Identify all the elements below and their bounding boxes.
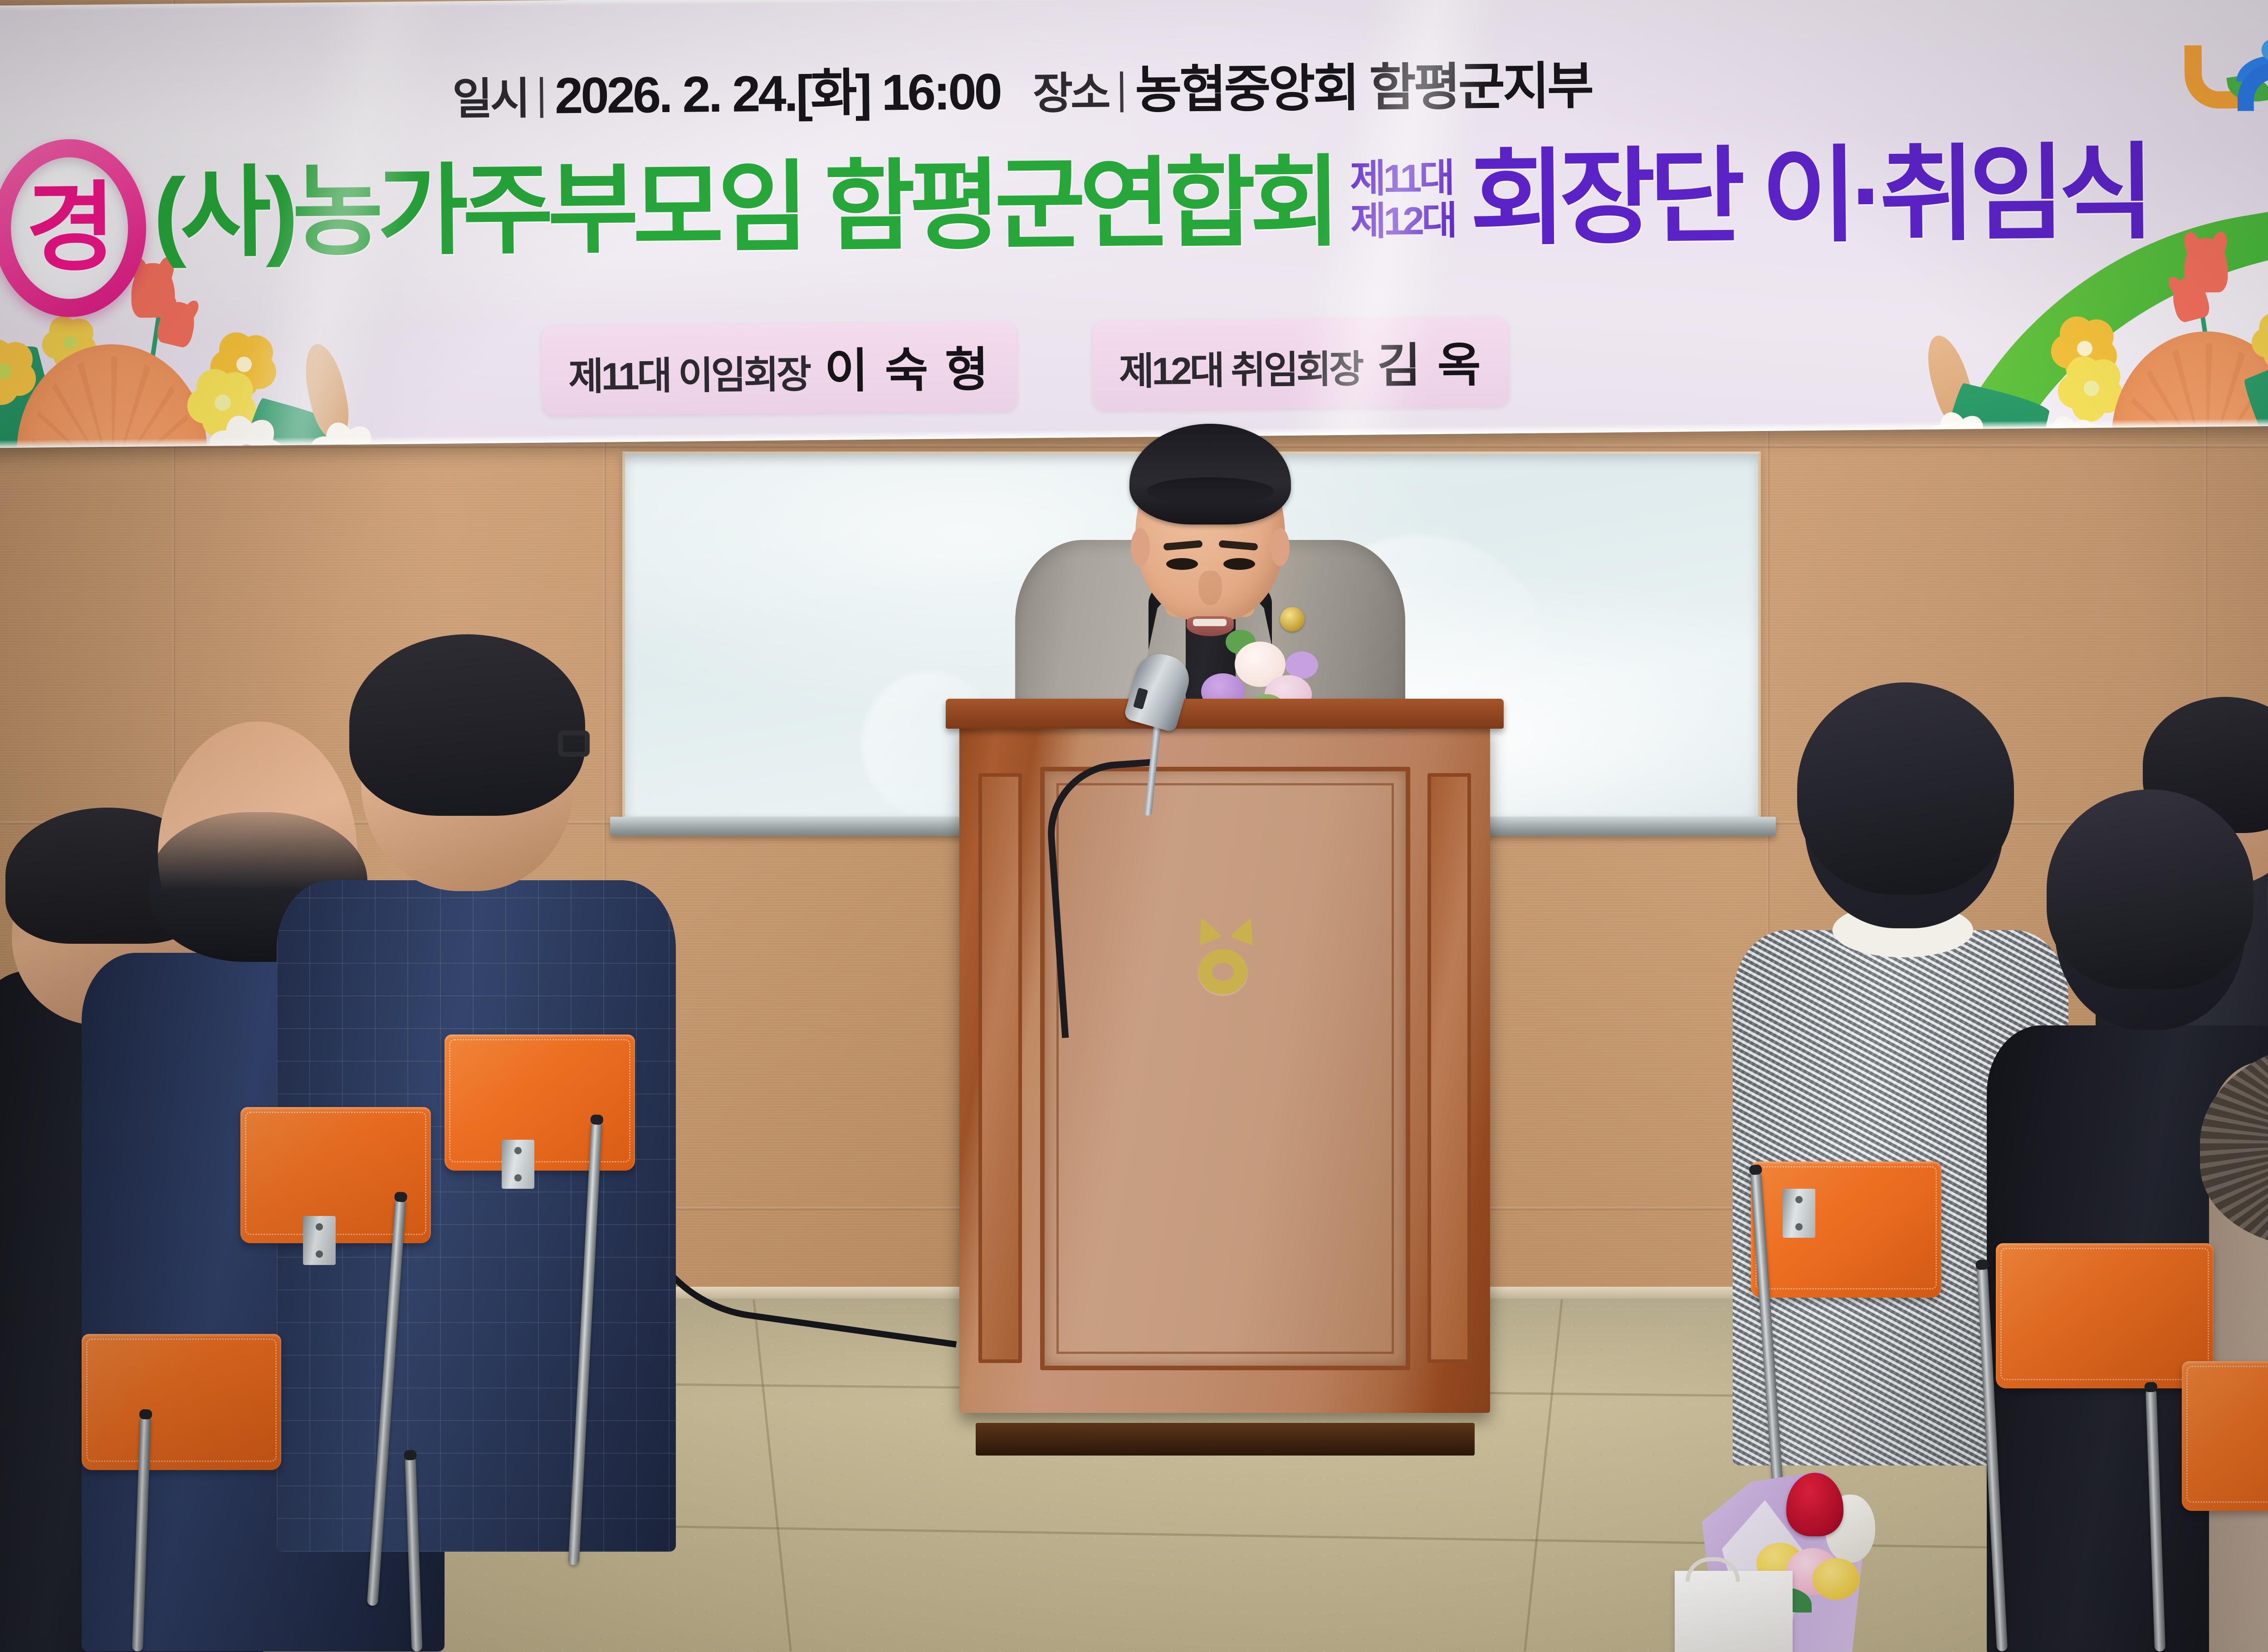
medallion-left: 경 [0,138,147,318]
yellow-blossom-icon [186,367,259,439]
wheat-ear-icon [298,340,355,441]
speaker-hair [1129,424,1291,525]
speaker-eyebrow [1163,540,1202,550]
divider [1120,71,1124,112]
banner-ordinals: 제11대 제12대 [1350,158,1455,241]
outgoing-president-name: 이 숙 형 [824,331,990,401]
banner-names-row: 제11대 이임회장 이 숙 형 제12대 취임회장 김 옥 [542,317,1509,415]
gift-box [1675,1571,1793,1652]
red-tulip-icon [155,299,199,349]
podium [959,699,1490,1452]
speaker-nose [1198,571,1222,605]
datetime-value: 2026. 2. 24.[화] 16:00 [554,50,1000,128]
yellow-blossom-icon [210,330,278,398]
banner-datetime: 일시 2026. 2. 24.[화] 16:00 [452,50,1001,129]
nonghyup-mark-icon [1191,917,1259,995]
yellow-blossom-icon [0,337,38,405]
maple-leaf-icon [16,343,208,448]
venue-label: 장소 [1032,58,1109,122]
podium-top-surface [946,699,1504,729]
banner-info-row: 일시 2026. 2. 24.[화] 16:00 장소 농협중앙회 함평군지부 [452,45,1592,129]
podium-front-face [959,723,1490,1413]
ordinal-11: 제11대 [1350,158,1455,198]
audience-member-right-fur [2209,744,2268,1652]
banner-title-row: (사)농가주부모임 함평군연합회 제11대 제12대 회장단 이·취임식 [153,145,2149,260]
speaker-eye [1166,558,1198,570]
medallion-left-char: 경 [25,181,113,275]
speaker-eye [1223,558,1255,570]
audience-hair [1797,682,2014,895]
outgoing-president: 제11대 이임회장 이 숙 형 [542,322,1017,416]
audience-hair [349,634,585,816]
audience-chair [1751,1162,1941,1298]
event-banner: 농협 [0,0,2268,448]
podium-side-panel [978,773,1022,1363]
outgoing-president-role: 제11대 이임회장 [568,344,810,401]
red-tulip-icon [131,263,175,318]
datetime-label: 일시 [452,63,528,127]
incoming-president-role: 제12대 취임회장 [1119,338,1362,396]
podium-base [976,1423,1475,1456]
audience-chair [82,1334,281,1470]
speaker-eyebrow [1218,540,1258,550]
green-leaf-icon [0,340,65,448]
bouquet [1702,1447,1915,1652]
microphone-gooseneck [1043,759,1175,1038]
chair-bracket [1783,1189,1815,1238]
flower-stem [144,295,164,399]
speaker-ear [1131,528,1150,566]
venue-value: 농협중앙회 함평군지부 [1135,45,1592,123]
chair-bracket [303,1216,336,1265]
ordinal-12: 제12대 [1350,201,1455,241]
podium-side-panel [1427,773,1471,1363]
banner-event-name: 회장단 이·취임식 [1470,145,2149,247]
nonghyup-nongsim-logo-icon [2181,36,2268,120]
red-rose-icon [1786,1473,1843,1536]
incoming-president: 제12대 취임회장 김 옥 [1092,317,1510,410]
microphone-stand [1052,708,1188,1034]
banner-organization: (사)농가주부모임 함평군연합회 [153,157,1335,260]
banner-venue: 장소 농협중앙회 함평군지부 [1032,45,1592,124]
audience-chair [1996,1243,2214,1388]
nongsim-logo: 국민과 함께하는 농심천심 [2181,34,2268,120]
speaker-ear [1271,528,1290,566]
chair-bracket [502,1140,534,1189]
divider [540,77,543,118]
audience-chair [2182,1361,2268,1511]
yellow-flower-icon [1813,1558,1860,1600]
photo-scene: 농협 [0,0,2268,1652]
eyeglasses-icon [558,730,590,757]
incoming-president-name: 김 옥 [1377,326,1483,396]
yellow-blossom-icon [41,314,98,371]
audience-chair [445,1034,635,1171]
